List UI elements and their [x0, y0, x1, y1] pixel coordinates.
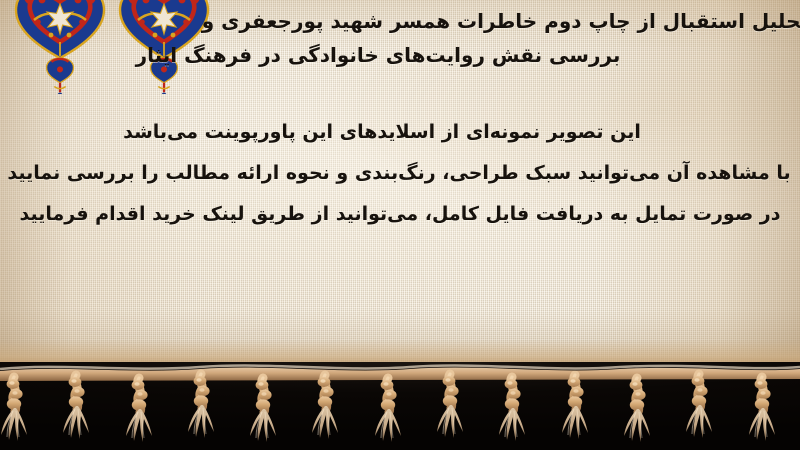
- title-line-2: بررسی نقش روایت‌های خانوادگی در فرهنگ ای…: [0, 38, 800, 72]
- body-line-2: با مشاهده آن می‌توانید سبک طراحی، رنگ‌بن…: [0, 153, 800, 194]
- slide-canvas: تحلیل استقبال از چاپ دوم خاطرات همسر شهی…: [0, 0, 800, 450]
- slide-title: تحلیل استقبال از چاپ دوم خاطرات همسر شهی…: [0, 4, 800, 72]
- title-line-1: تحلیل استقبال از چاپ دوم خاطرات همسر شهی…: [0, 4, 800, 38]
- slide-text-layer: تحلیل استقبال از چاپ دوم خاطرات همسر شهی…: [0, 0, 800, 368]
- body-line-3: در صورت تمایل به دریافت فایل کامل، می‌تو…: [0, 194, 800, 235]
- body-line-1: این تصویر نمونه‌ای از اسلایدهای این پاور…: [0, 112, 800, 153]
- slide-body: این تصویر نمونه‌ای از اسلایدهای این پاور…: [0, 112, 800, 235]
- carpet-fringe-area: [0, 362, 800, 450]
